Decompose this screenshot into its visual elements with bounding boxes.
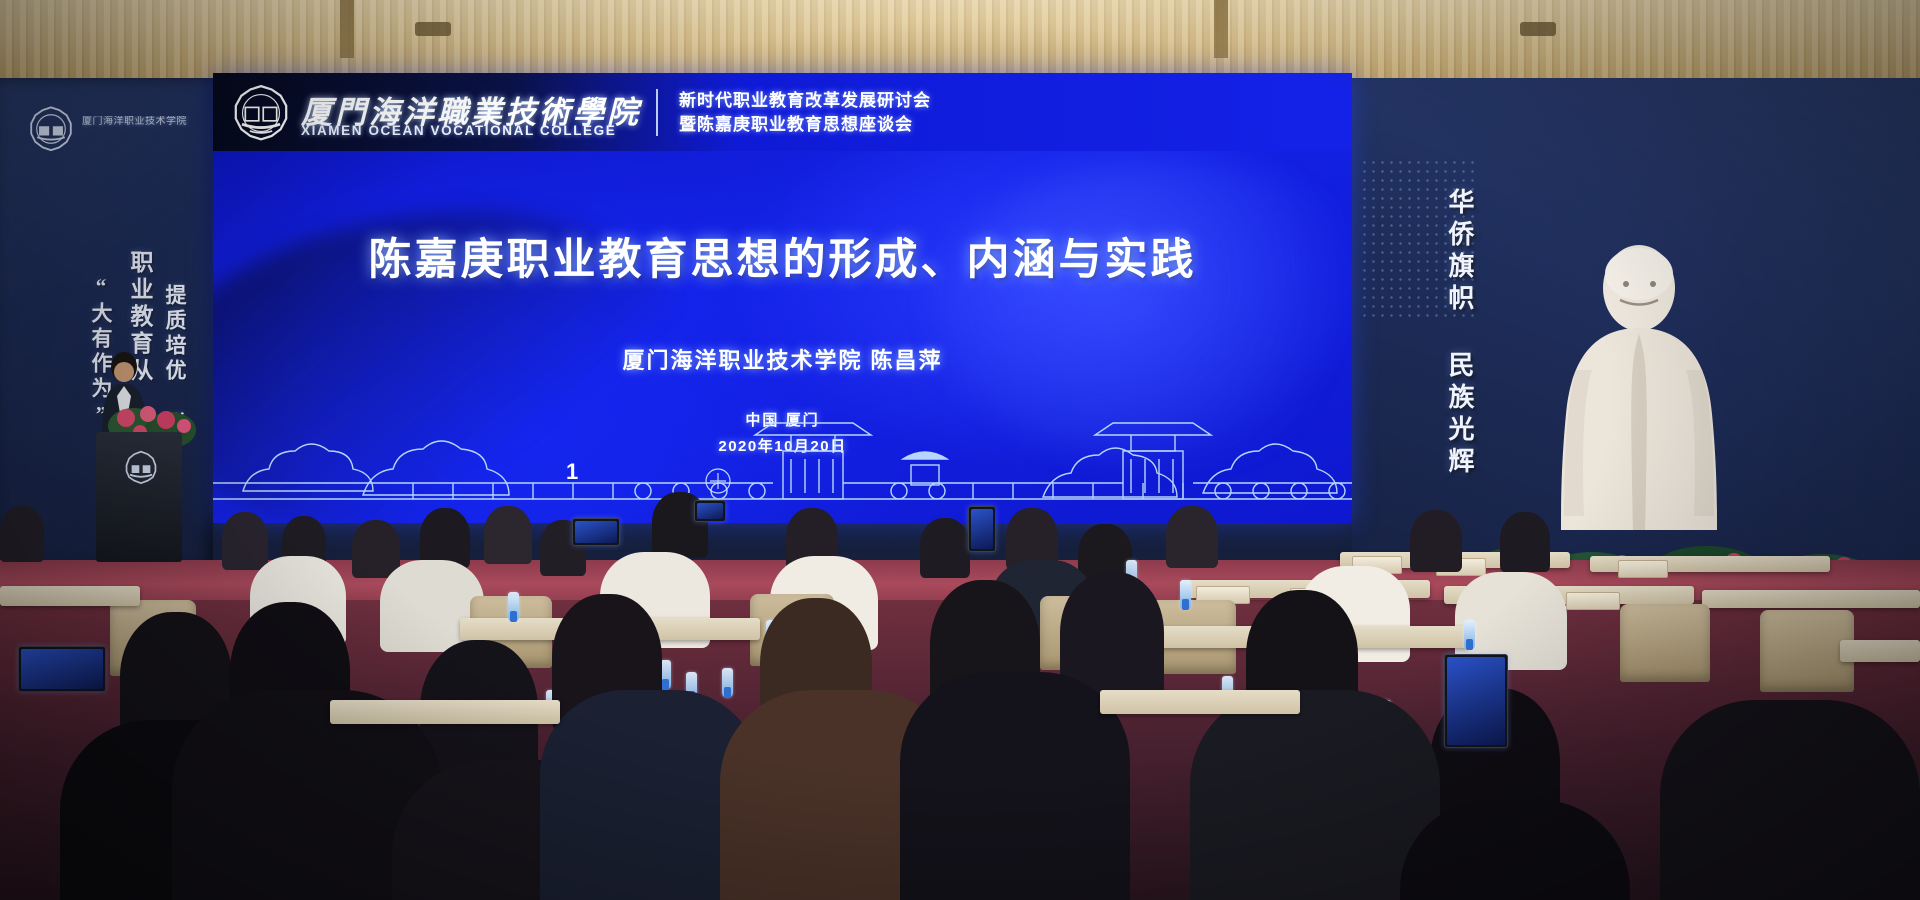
slide-presenter: 厦门海洋职业技术学院 陈昌萍: [213, 343, 1352, 375]
attendee-head: [222, 512, 268, 570]
slide-title: 陈嘉庚职业教育思想的形成、内涵与实践: [213, 225, 1352, 287]
conference-subtitle-line1: 新时代职业教育改革发展研讨会: [679, 89, 931, 113]
smartphone[interactable]: [968, 506, 996, 552]
smartphone[interactable]: [1444, 654, 1508, 748]
led-presentation-screen: 厦門海洋職業技術學院 XIAMEN OCEAN VOCATIONAL COLLE…: [213, 73, 1352, 523]
slide-header-bar: 厦門海洋職業技術學院 XIAMEN OCEAN VOCATIONAL COLLE…: [213, 73, 1352, 151]
conference-hall-photo: 厦门海洋职业技术学院 “大有作为” 职业教育从 提质培优 增 华侨旗帜 民族光辉: [0, 0, 1920, 900]
right-banner-calligraphy: 华侨旗帜 民族光辉: [1436, 188, 1482, 479]
attendee-head: [0, 506, 44, 562]
attendee-head: [352, 520, 400, 578]
gate-number-label: 1: [566, 459, 578, 484]
ceiling-beam: [340, 0, 354, 58]
header-divider: [656, 89, 658, 136]
attendee-head: [420, 508, 470, 568]
screen-logo-english: XIAMEN OCEAN VOCATIONAL COLLEGE: [301, 123, 616, 138]
table-row: [1840, 640, 1920, 662]
nameplate: [1618, 560, 1668, 578]
attendee-body: [900, 672, 1130, 900]
table-row: [1702, 590, 1920, 608]
attendee-head: [484, 506, 532, 564]
water-bottle: [508, 592, 519, 622]
smartphone[interactable]: [572, 518, 620, 546]
college-emblem-icon: [28, 106, 74, 152]
conference-subtitle: 新时代职业教育改革发展研讨会 暨陈嘉庚职业教育思想座谈会: [679, 89, 931, 137]
water-bottle: [722, 668, 733, 698]
lectern-emblem-icon: [124, 450, 158, 484]
lectern: [96, 432, 182, 562]
chair: [1620, 604, 1710, 682]
college-logo-icon: [233, 85, 289, 141]
attendee-head: [1500, 512, 1550, 572]
ceiling-vent: [415, 22, 451, 36]
left-banner-college-name: 厦门海洋职业技术学院: [82, 116, 204, 138]
ceiling-beam: [1214, 0, 1228, 58]
conference-subtitle-line2: 暨陈嘉庚职业教育思想座谈会: [679, 113, 931, 137]
water-bottle: [1180, 580, 1191, 610]
attendee-head: [1166, 506, 1218, 568]
attendee-head: [920, 518, 970, 578]
water-bottle: [1464, 620, 1475, 650]
campus-gate-illustration: 1: [213, 395, 1352, 523]
attendee-head: [1410, 510, 1462, 572]
table-row: [0, 586, 140, 606]
table-row: [330, 700, 560, 724]
smartphone[interactable]: [694, 500, 726, 522]
attendee-body: [1660, 700, 1920, 900]
table-row: [1100, 690, 1300, 714]
nameplate: [1566, 592, 1620, 610]
ceiling-vent: [1520, 22, 1556, 36]
smartphone[interactable]: [18, 646, 106, 692]
